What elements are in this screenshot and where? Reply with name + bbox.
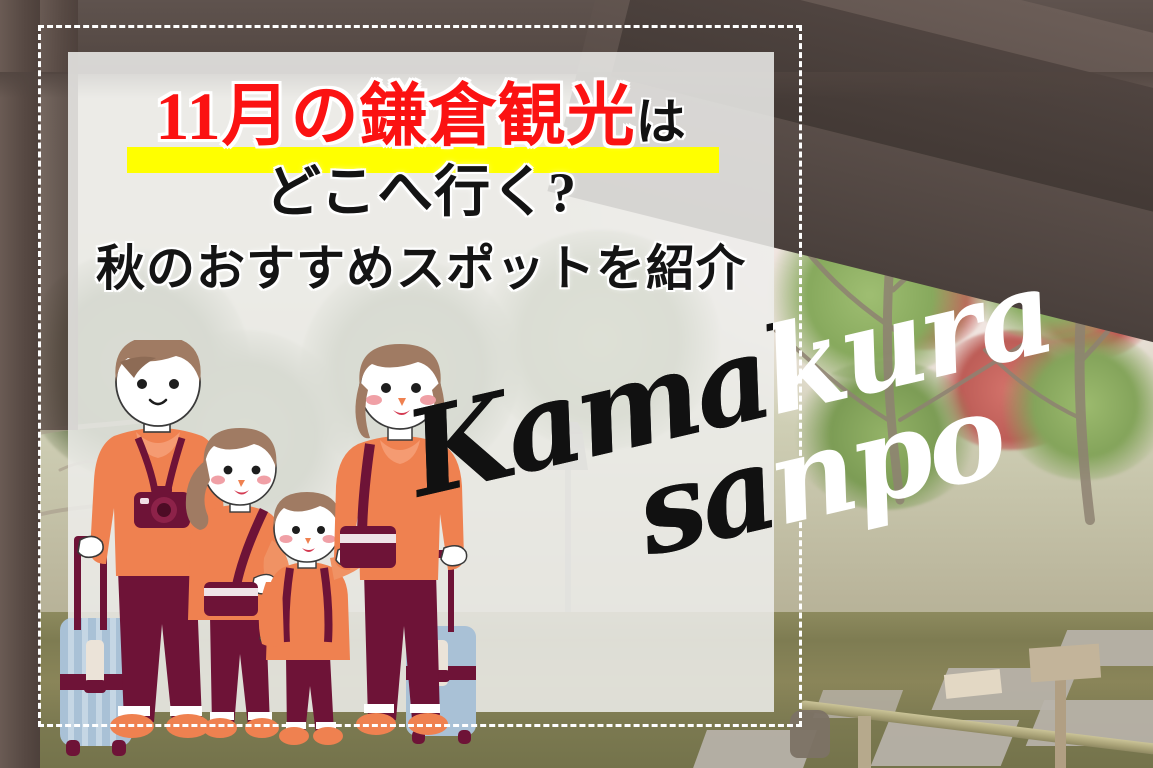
dashed-frame [38, 25, 802, 727]
hero-banner: 11月の鎌倉観光は どこへ行く? 秋のおすすめスポットを紹介 Kamakura … [0, 0, 1153, 768]
